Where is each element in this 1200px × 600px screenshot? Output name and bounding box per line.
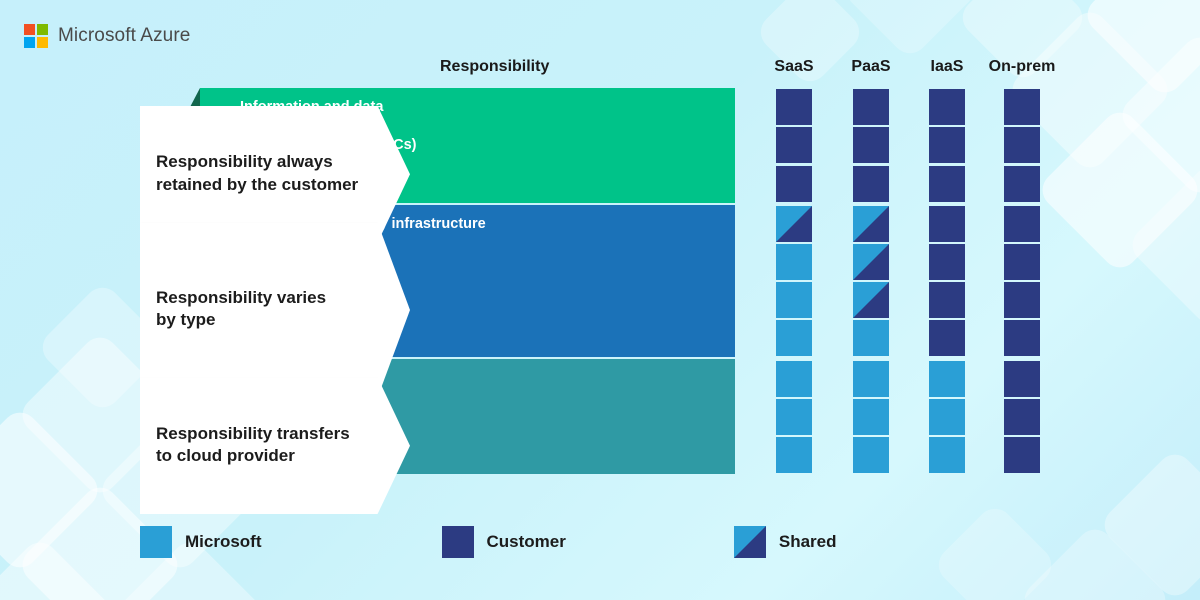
- matrix-cell: [1004, 399, 1040, 435]
- decorative-diamond: [1035, 105, 1200, 275]
- matrix-cell: [1004, 320, 1040, 356]
- matrix-cell: [853, 89, 889, 125]
- logo-square-2: [37, 24, 48, 35]
- matrix-cell: [1004, 166, 1040, 202]
- logo-square-4: [37, 37, 48, 48]
- matrix-cell: [929, 166, 965, 202]
- matrix-cell: [1004, 282, 1040, 318]
- legend-swatch-microsoft: [140, 526, 172, 558]
- decorative-diamond: [1125, 160, 1200, 330]
- decorative-diamond: [931, 501, 1058, 600]
- decorative-diamond: [1017, 522, 1173, 600]
- matrix-cell: [776, 127, 812, 163]
- legend-swatch-customer: [442, 526, 474, 558]
- legend-item-microsoft: Microsoft: [140, 526, 262, 558]
- brand-logo: Microsoft Azure: [24, 24, 190, 48]
- matrix-cell: [776, 320, 812, 356]
- legend-label-microsoft: Microsoft: [185, 532, 262, 552]
- decorative-diamond: [0, 405, 105, 575]
- matrix-cell: [776, 89, 812, 125]
- matrix-cell: [929, 282, 965, 318]
- column-header-responsibility: Responsibility: [440, 58, 549, 76]
- matrix-cell: [1004, 361, 1040, 397]
- matrix-cell: [929, 437, 965, 473]
- matrix-cell: [776, 206, 812, 242]
- matrix-cell: [1004, 437, 1040, 473]
- matrix-cell: [929, 320, 965, 356]
- decorative-diamond: [839, 0, 980, 61]
- decorative-diamond: [1080, 0, 1200, 100]
- matrix-cell: [853, 437, 889, 473]
- matrix-cell: [853, 361, 889, 397]
- callout-text-transfers-to-provider: Responsibility transfers to cloud provid…: [156, 423, 350, 468]
- shared-responsibility-diagram: Microsoft Azure Responsibility SaaSPaaSI…: [0, 0, 1200, 600]
- column-header-paas: PaaS: [827, 58, 915, 76]
- matrix-cell: [853, 244, 889, 280]
- matrix-cell: [776, 166, 812, 202]
- legend-label-shared: Shared: [779, 532, 837, 552]
- matrix-cell: [929, 127, 965, 163]
- column-header-on-prem: On-prem: [978, 58, 1066, 76]
- matrix-cell: [776, 437, 812, 473]
- matrix-cell: [929, 89, 965, 125]
- brand-name: Microsoft Azure: [58, 25, 190, 47]
- matrix-cell: [776, 361, 812, 397]
- matrix-cell: [853, 166, 889, 202]
- legend-item-shared: Shared: [734, 526, 837, 558]
- legend-swatch-shared: [734, 526, 766, 558]
- logo-square-3: [24, 37, 35, 48]
- matrix-cell: [853, 206, 889, 242]
- callout-text-varies-by-type: Responsibility varies by type: [156, 287, 326, 332]
- matrix-cell: [929, 244, 965, 280]
- legend: MicrosoftCustomerShared: [140, 526, 837, 558]
- matrix-cell: [1004, 127, 1040, 163]
- matrix-cell: [1004, 89, 1040, 125]
- matrix-cell: [1004, 206, 1040, 242]
- matrix-cell: [853, 399, 889, 435]
- decorative-diamond: [0, 535, 125, 600]
- column-header-saas: SaaS: [750, 58, 838, 76]
- matrix-cell: [853, 282, 889, 318]
- callout-text-always-retained: Responsibility always retained by the cu…: [156, 151, 358, 196]
- logo-square-1: [24, 24, 35, 35]
- legend-label-customer: Customer: [487, 532, 566, 552]
- matrix-cell: [853, 320, 889, 356]
- matrix-cell: [929, 206, 965, 242]
- legend-item-customer: Customer: [442, 526, 566, 558]
- matrix-cell: [853, 127, 889, 163]
- microsoft-logo-icon: [24, 24, 48, 48]
- matrix-cell: [776, 399, 812, 435]
- matrix-cell: [929, 399, 965, 435]
- matrix-cell: [776, 282, 812, 318]
- decorative-diamond: [1097, 447, 1200, 600]
- matrix-cell: [776, 244, 812, 280]
- matrix-cell: [929, 361, 965, 397]
- matrix-cell: [1004, 244, 1040, 280]
- decorative-diamond: [1115, 30, 1200, 200]
